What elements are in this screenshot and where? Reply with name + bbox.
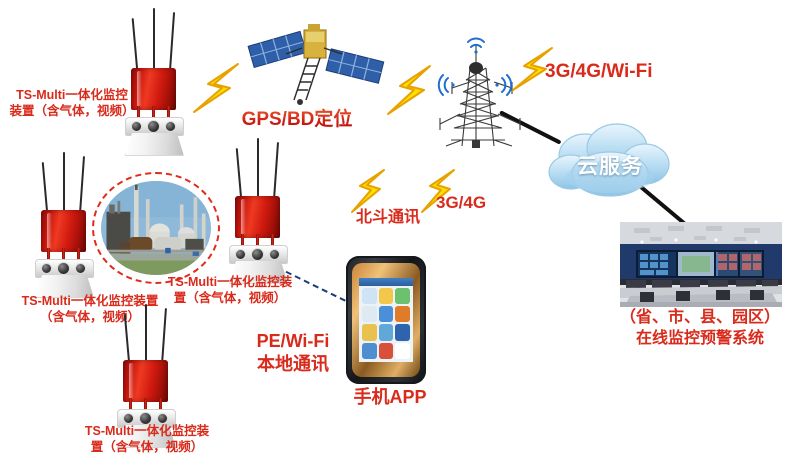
gas-port [131, 121, 142, 132]
label-local-comm: PE/Wi-Fi 本地通讯 [228, 330, 358, 375]
gas-port [157, 413, 168, 424]
refinery-photo [101, 181, 211, 275]
sensor-body [123, 360, 168, 402]
app-icon[interactable] [379, 324, 394, 340]
app-icon[interactable] [379, 306, 394, 322]
label-phone-app: 手机APP [340, 386, 440, 409]
antenna [42, 162, 49, 214]
antenna [169, 12, 175, 72]
app-icon[interactable] [362, 306, 377, 322]
label-3g4g: 3G/4G [436, 192, 526, 213]
refinery-photo-circle [92, 172, 220, 284]
antenna [153, 8, 155, 72]
gas-port [123, 413, 134, 424]
antenna [145, 304, 147, 364]
app-icon[interactable] [395, 306, 410, 322]
app-icon[interactable] [395, 324, 410, 340]
label-control-center: （省、市、县、园区） 在线监控预警系统 [600, 308, 797, 350]
gas-port [235, 249, 246, 260]
label-sensor-bottom: TS-Multi一体化监控装 置（含气体，视频） [72, 424, 222, 455]
gas-port [269, 249, 280, 260]
camera-lens [251, 248, 264, 261]
sensor-device-top[interactable] [112, 4, 196, 154]
app-icon[interactable] [379, 288, 394, 304]
app-icon[interactable] [395, 343, 410, 359]
satellite-icon [246, 8, 386, 108]
rugged-pda-device[interactable] [346, 256, 426, 384]
control-room-svg [620, 222, 782, 307]
bolt-icon-gps-uplink [186, 62, 250, 114]
camera-lens [57, 262, 70, 275]
antenna [132, 18, 139, 72]
camera-lens [147, 120, 160, 133]
antenna [63, 152, 65, 214]
cloud-label: 云服务 [545, 150, 675, 180]
satellite-svg [246, 8, 386, 108]
app-icon[interactable] [395, 288, 410, 304]
app-icon[interactable] [362, 324, 377, 340]
cloud-icon[interactable]: 云服务 [545, 122, 675, 204]
sensor-body [41, 210, 86, 252]
gas-port [41, 263, 52, 274]
sensor-device-middle[interactable] [216, 136, 300, 284]
diagram-canvas: TS-Multi一体化监控 装置（含气体，视频） TS-Multi一体化监控装置… [0, 0, 797, 464]
label-sensor-top: TS-Multi一体化监控 装置（含气体，视频） [2, 88, 142, 119]
antenna [273, 142, 279, 200]
antenna [161, 308, 167, 364]
app-icon[interactable] [379, 343, 394, 359]
sensor-base-cone [125, 133, 184, 156]
antenna [236, 148, 243, 200]
antenna [257, 138, 259, 200]
pda-screen[interactable] [359, 278, 413, 362]
gas-port [165, 121, 176, 132]
antenna [124, 314, 130, 364]
control-room-photo [620, 222, 782, 307]
sensor-body [235, 196, 280, 238]
pda-app-grid[interactable] [362, 288, 411, 359]
pda-status-bar [359, 278, 413, 286]
app-icon[interactable] [362, 343, 377, 359]
app-icon[interactable] [362, 288, 377, 304]
antenna [79, 156, 85, 214]
gas-port [75, 263, 86, 274]
refinery-plant-photo [101, 181, 211, 275]
label-gps-positioning: GPS/BD定位 [222, 108, 372, 132]
label-3g4g-wifi: 3G/4G/Wi-Fi [545, 60, 725, 84]
